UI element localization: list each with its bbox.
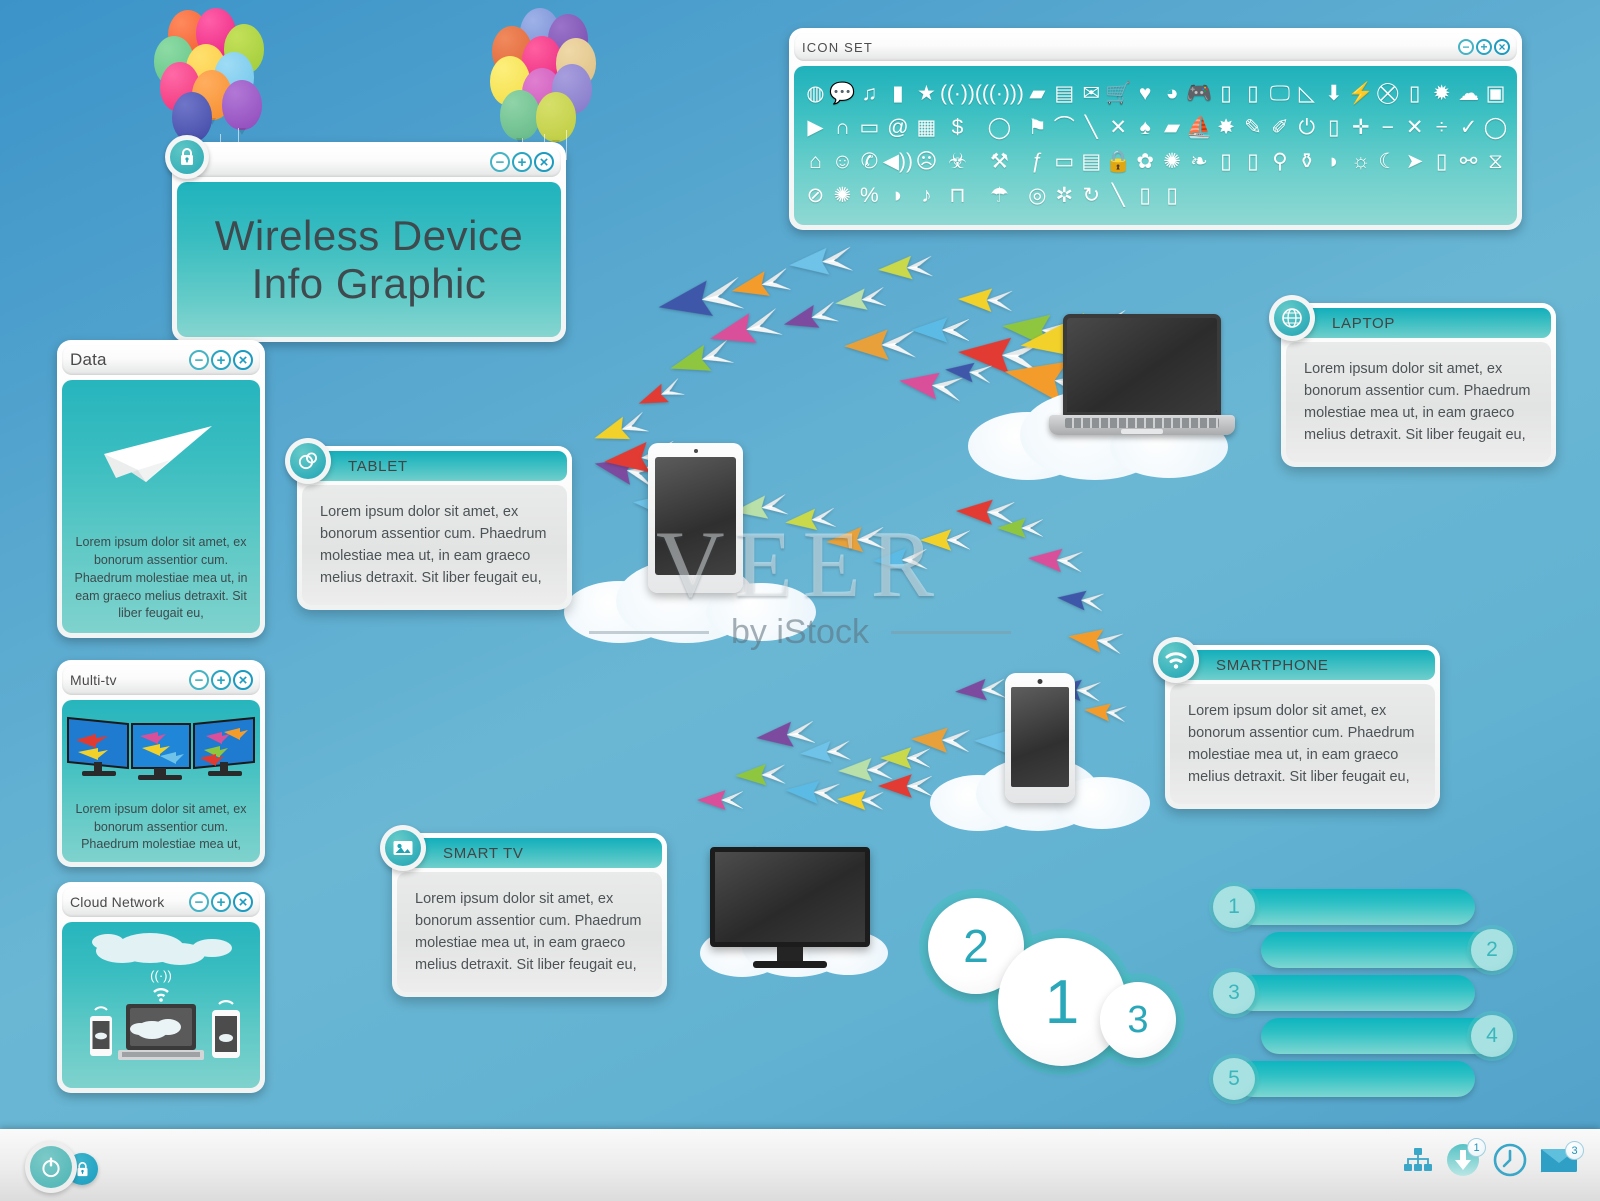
wifi-icon-glyph: [1164, 650, 1188, 670]
bar-row[interactable]: 4: [1213, 1018, 1513, 1054]
smartphone-screen: [1011, 687, 1069, 787]
download-badge: 1: [1467, 1138, 1486, 1157]
taskbar[interactable]: 1 3: [0, 1129, 1600, 1201]
bubble-tablet-label: TABLET: [302, 451, 567, 481]
bubble-shell: SMART TV Lorem ipsum dolor sit amet, ex …: [392, 833, 667, 997]
bar-pill[interactable]: [1261, 932, 1499, 968]
bubble-smartphone-text: Lorem ipsum dolor sit amet, ex bonorum a…: [1170, 684, 1435, 804]
laptop-touchpad: [1121, 429, 1163, 434]
tablet-circles-icon: [285, 438, 331, 484]
bar-row[interactable]: 5: [1213, 1061, 1513, 1097]
bar-number-1-value: 1: [1228, 895, 1240, 919]
power-icon: [39, 1155, 63, 1179]
lock-icon: [170, 140, 204, 174]
wifi-icon: [1153, 637, 1199, 683]
network-sitemap-icon-glyph: [1403, 1147, 1433, 1173]
smarttv-device: [710, 847, 870, 968]
bar-number-3[interactable]: 3: [1213, 972, 1255, 1014]
bubble-card-smarttv[interactable]: SMART TV Lorem ipsum dolor sit amet, ex …: [392, 833, 667, 997]
tablet-screen: [655, 457, 736, 575]
bubble-shell: SMARTPHONE Lorem ipsum dolor sit amet, e…: [1165, 645, 1440, 809]
laptop-base: [1049, 415, 1235, 435]
bar-pill[interactable]: [1261, 1018, 1499, 1054]
smarttv-screen: [710, 847, 870, 947]
laptop-device: [1063, 314, 1235, 435]
tablet-circles-icon-glyph: [297, 450, 319, 472]
bar-number-2-value: 2: [1486, 938, 1498, 962]
tablet-camera: [694, 449, 698, 453]
tablet-device: [648, 443, 743, 593]
bubble-smartphone-label: SMARTPHONE: [1170, 650, 1435, 680]
picture-icon-glyph: [391, 838, 415, 858]
bar-number-2[interactable]: 2: [1471, 929, 1513, 971]
bubble-smarttv-text: Lorem ipsum dolor sit amet, ex bonorum a…: [397, 872, 662, 992]
mail-icon[interactable]: 3: [1540, 1146, 1578, 1174]
bubble-smarttv-label: SMART TV: [397, 838, 662, 868]
network-sitemap-icon[interactable]: [1403, 1147, 1433, 1173]
bar-number-1[interactable]: 1: [1213, 886, 1255, 928]
bar-number-4[interactable]: 4: [1471, 1015, 1513, 1057]
numbered-bar-list: 1 2 3 4 5: [1213, 889, 1513, 1104]
smartphone-device: [1005, 673, 1075, 803]
step-circle-3-value: 3: [1127, 999, 1148, 1042]
bar-row[interactable]: 1: [1213, 889, 1513, 925]
bar-number-5[interactable]: 5: [1213, 1058, 1255, 1100]
bar-number-5-value: 5: [1228, 1067, 1240, 1091]
title-lock-badge: [165, 135, 209, 179]
globe-icon-glyph: [1280, 306, 1304, 330]
step-circle-1-value: 1: [1045, 967, 1079, 1038]
taskbar-tray[interactable]: 1 3: [1403, 1143, 1578, 1177]
clock-icon-glyph: [1493, 1143, 1527, 1177]
laptop-screen: [1063, 314, 1221, 416]
bubble-card-smartphone[interactable]: SMARTPHONE Lorem ipsum dolor sit amet, e…: [1165, 645, 1440, 809]
bar-pill[interactable]: [1235, 1061, 1475, 1097]
bar-number-3-value: 3: [1228, 981, 1240, 1005]
bubble-laptop-text: Lorem ipsum dolor sit amet, ex bonorum a…: [1286, 342, 1551, 462]
bubble-card-tablet[interactable]: TABLET Lorem ipsum dolor sit amet, ex bo…: [297, 446, 572, 610]
laptop-keyboard: [1065, 418, 1219, 428]
lock-icon-glyph: [178, 147, 196, 167]
bubble-tablet-text: Lorem ipsum dolor sit amet, ex bonorum a…: [302, 485, 567, 605]
globe-icon: [1269, 295, 1315, 341]
bar-pill[interactable]: [1235, 975, 1475, 1011]
step-circle-2-value: 2: [963, 919, 989, 973]
clock-icon[interactable]: [1493, 1143, 1527, 1177]
mail-badge: 3: [1565, 1141, 1584, 1160]
bar-pill[interactable]: [1235, 889, 1475, 925]
smarttv-stand: [753, 961, 827, 968]
bubble-card-laptop[interactable]: LAPTOP Lorem ipsum dolor sit amet, ex bo…: [1281, 303, 1556, 467]
bar-number-4-value: 4: [1486, 1024, 1498, 1048]
bubble-shell: TABLET Lorem ipsum dolor sit amet, ex bo…: [297, 446, 572, 610]
smartphone-camera: [1038, 679, 1043, 684]
download-icon[interactable]: 1: [1446, 1143, 1480, 1177]
bar-row[interactable]: 2: [1213, 932, 1513, 968]
bubble-laptop-label: LAPTOP: [1286, 308, 1551, 338]
picture-icon: [380, 825, 426, 871]
step-circle-3[interactable]: 3: [1100, 982, 1176, 1058]
smarttv-neck: [777, 947, 803, 961]
bar-row[interactable]: 3: [1213, 975, 1513, 1011]
taskbar-power-button[interactable]: [25, 1141, 77, 1193]
bubble-shell: LAPTOP Lorem ipsum dolor sit amet, ex bo…: [1281, 303, 1556, 467]
